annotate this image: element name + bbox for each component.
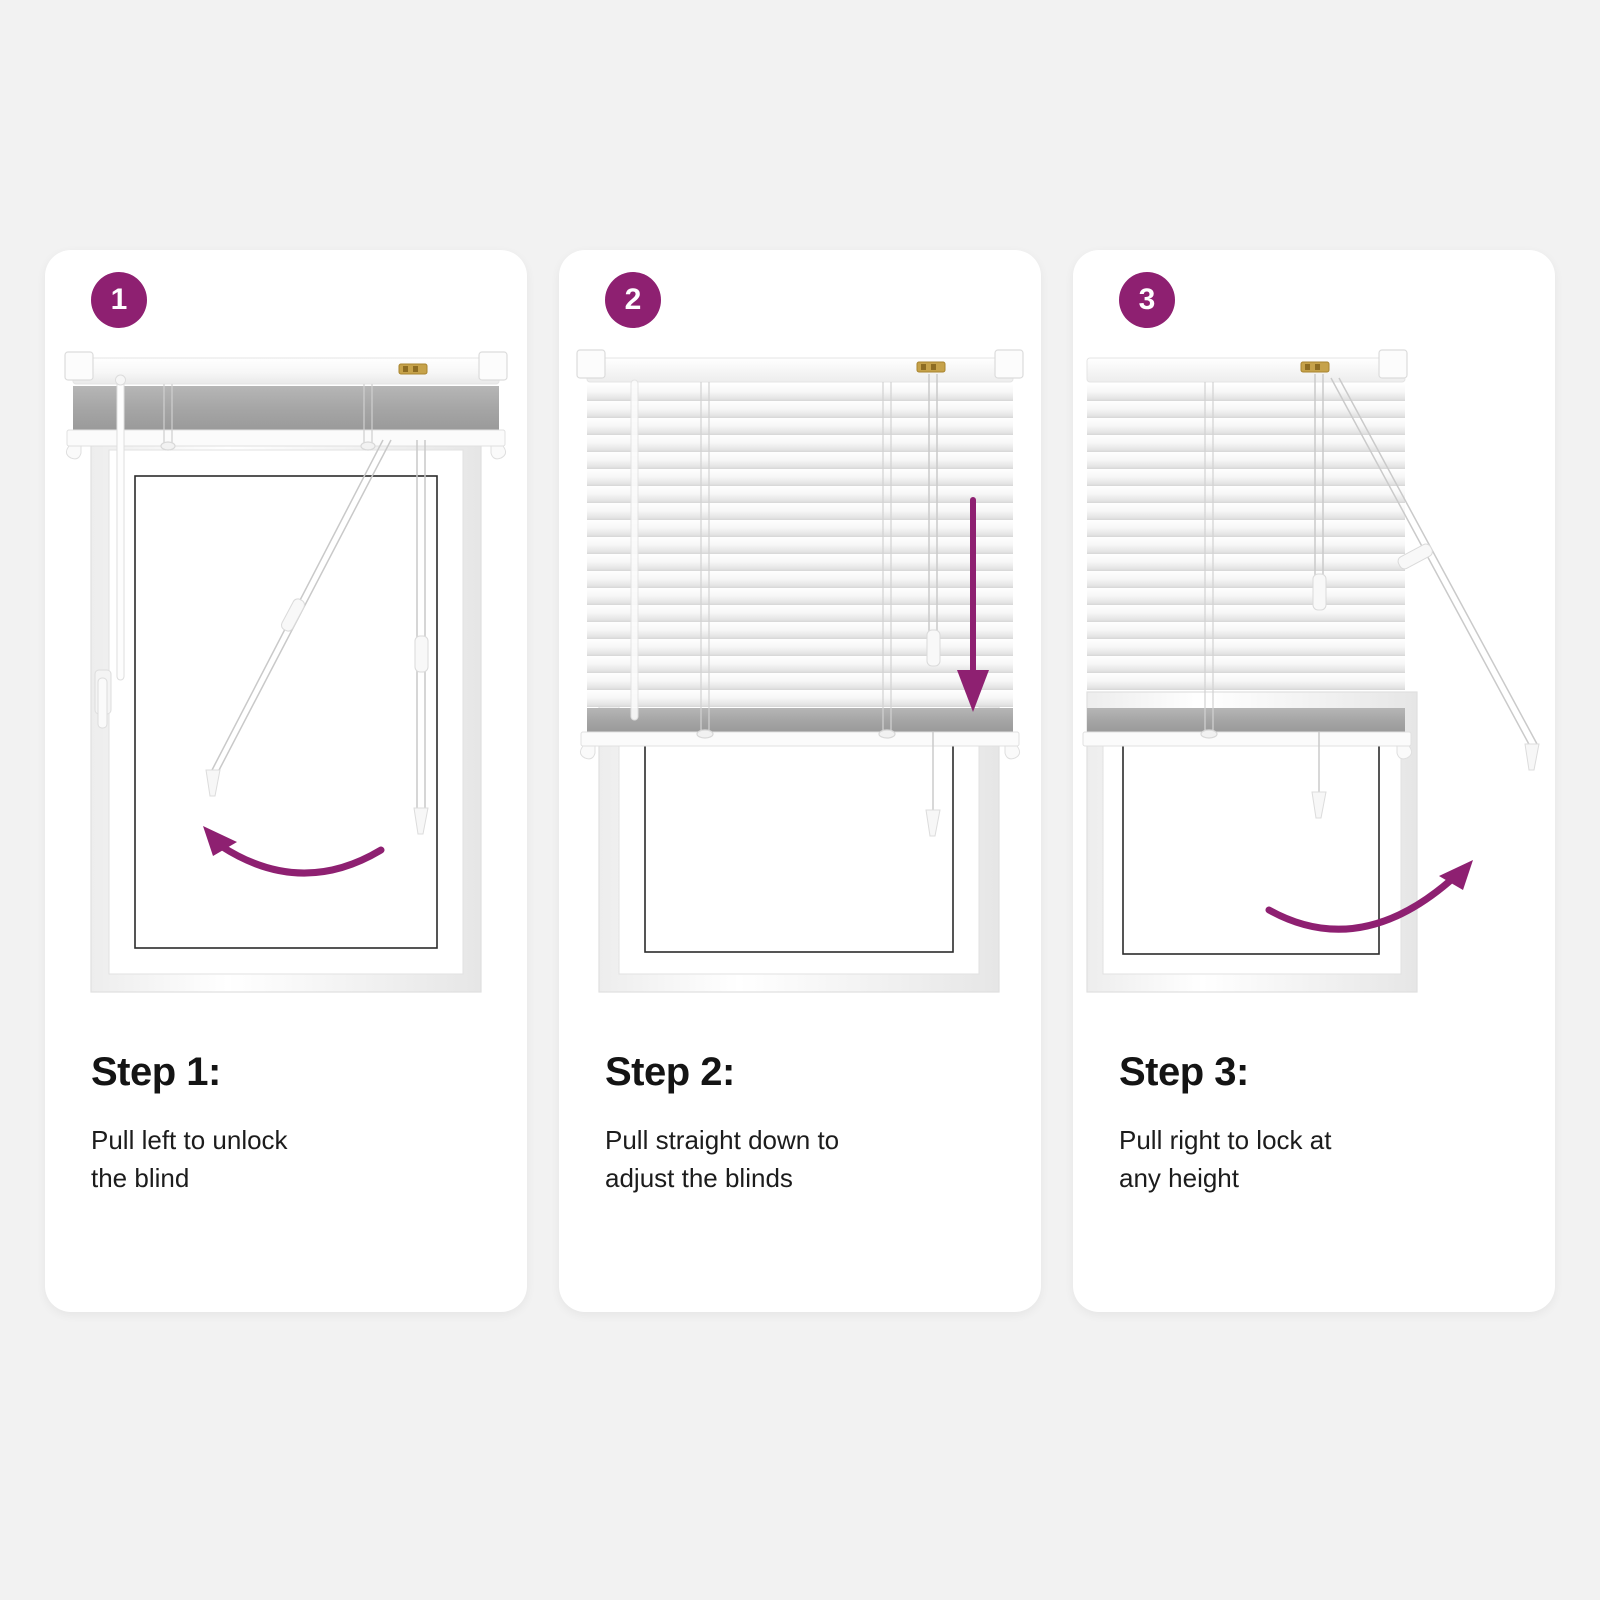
cord-condenser-vertical — [1313, 574, 1326, 610]
mounting-bracket-left — [65, 352, 93, 380]
step-badge-2: 2 — [605, 272, 661, 328]
step-title-1: Step 1: — [91, 1050, 497, 1095]
step-description-line2: any height — [1119, 1163, 1239, 1193]
step-caption-3: Step 3: Pull right to lock at any height — [1119, 1050, 1525, 1198]
illustration-step-1 — [45, 340, 527, 1040]
step-description-line1: Pull left to unlock — [91, 1125, 288, 1155]
cord-tassel-pulled — [1525, 744, 1539, 770]
blind-slats — [587, 384, 1013, 707]
tilt-wand — [116, 375, 126, 680]
tilt-wand — [631, 380, 638, 720]
step-description-line2: the blind — [91, 1163, 189, 1193]
step-badge-1: 1 — [91, 272, 147, 328]
step-caption-1: Step 1: Pull left to unlock the blind — [91, 1050, 497, 1198]
step-description-line1: Pull right to lock at — [1119, 1125, 1331, 1155]
step-cards-container: 1 — [45, 250, 1555, 1312]
mounting-bracket-right — [479, 352, 507, 380]
blind-headrail — [1087, 350, 1407, 382]
step-title-2: Step 2: — [605, 1050, 1011, 1095]
blind-slats — [1087, 384, 1405, 690]
instruction-diagram: 1 — [0, 0, 1600, 1600]
blind-headrail — [65, 352, 507, 459]
step-title-3: Step 3: — [1119, 1050, 1525, 1095]
illustration-step-2 — [559, 340, 1041, 1040]
step-caption-2: Step 2: Pull straight down to adjust the… — [605, 1050, 1011, 1198]
mounting-bracket-right — [995, 350, 1023, 378]
blind-headrail — [577, 350, 1023, 382]
mounting-bracket-right — [1379, 350, 1407, 378]
step-card-1: 1 — [45, 250, 527, 1312]
step-description-3: Pull right to lock at any height — [1119, 1121, 1459, 1198]
window-frame — [91, 432, 481, 992]
mounting-bracket-left — [577, 350, 605, 378]
step-card-2: 2 — [559, 250, 1041, 1312]
step-badge-3: 3 — [1119, 272, 1175, 328]
step-card-3: 3 — [1073, 250, 1555, 1312]
step-description-1: Pull left to unlock the blind — [91, 1121, 431, 1198]
cord-condenser-vertical — [415, 636, 428, 672]
cord-condenser — [927, 630, 940, 666]
step-description-line1: Pull straight down to — [605, 1125, 839, 1155]
illustration-step-3 — [1073, 340, 1555, 1040]
step-description-line2: adjust the blinds — [605, 1163, 793, 1193]
step-description-2: Pull straight down to adjust the blinds — [605, 1121, 945, 1198]
